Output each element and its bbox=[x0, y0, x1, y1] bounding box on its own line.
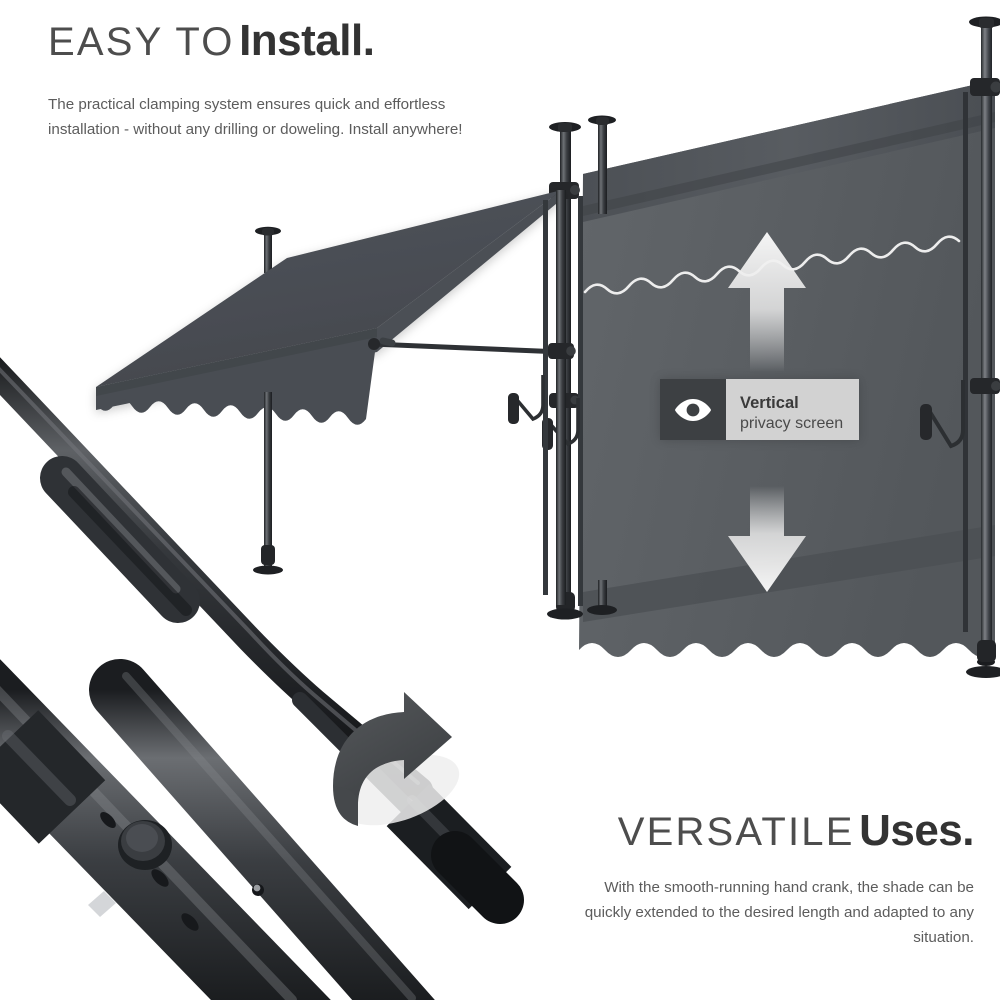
eye-icon bbox=[660, 379, 726, 440]
screen-left-telescoping-pole bbox=[547, 122, 583, 620]
uses-heading-bold: Uses. bbox=[859, 806, 974, 855]
locking-knob-icon bbox=[118, 820, 172, 870]
awning-guide-rod bbox=[543, 200, 548, 595]
telescoping-pole-closeup bbox=[0, 668, 300, 1000]
privacy-screen-fabric bbox=[579, 80, 995, 657]
arrow-up-icon bbox=[728, 232, 806, 372]
uses-heading: VERSATILE Uses. bbox=[618, 806, 974, 856]
awning-canopy-fabric bbox=[96, 190, 563, 410]
wavy-trim-line bbox=[585, 237, 959, 294]
awning-support-arm bbox=[368, 338, 566, 358]
badge-label-group: Vertical privacy screen bbox=[726, 379, 859, 440]
arrow-down-icon bbox=[728, 486, 806, 592]
awning-crank-handle bbox=[508, 375, 543, 424]
install-body-text: The practical clamping system ensures qu… bbox=[48, 92, 478, 142]
crank-grip-sleeve bbox=[62, 472, 186, 610]
screen-crank-handle bbox=[542, 398, 578, 450]
screen-back-pole bbox=[587, 116, 617, 616]
infographic-canvas: Vertical privacy screen EASY TO Install.… bbox=[0, 0, 1000, 1000]
uses-heading-light: VERSATILE bbox=[618, 810, 855, 854]
right-guide-rod bbox=[963, 92, 968, 632]
screen-guide-rod bbox=[578, 196, 583, 606]
crank-shaft-tip bbox=[300, 700, 500, 900]
install-heading-bold: Install. bbox=[239, 16, 374, 65]
arrow-rotate-icon bbox=[333, 692, 452, 826]
crank-rod bbox=[0, 349, 420, 790]
right-telescoping-pole bbox=[966, 17, 1000, 679]
awning-valance-scallop bbox=[96, 337, 377, 425]
awning-front-pole bbox=[253, 392, 283, 575]
status-badge: Vertical privacy screen bbox=[660, 379, 859, 440]
install-heading-light: EASY TO bbox=[48, 20, 235, 64]
badge-label-secondary: privacy screen bbox=[740, 413, 843, 434]
awning-rear-pole bbox=[255, 227, 281, 273]
badge-label-primary: Vertical bbox=[740, 393, 843, 413]
uses-body-text: With the smooth-running hand crank, the … bbox=[554, 875, 974, 950]
awning-right-mast bbox=[548, 190, 576, 605]
right-crank-handle bbox=[920, 380, 963, 446]
second-pole-closeup bbox=[120, 676, 420, 1000]
install-heading: EASY TO Install. bbox=[48, 16, 374, 66]
